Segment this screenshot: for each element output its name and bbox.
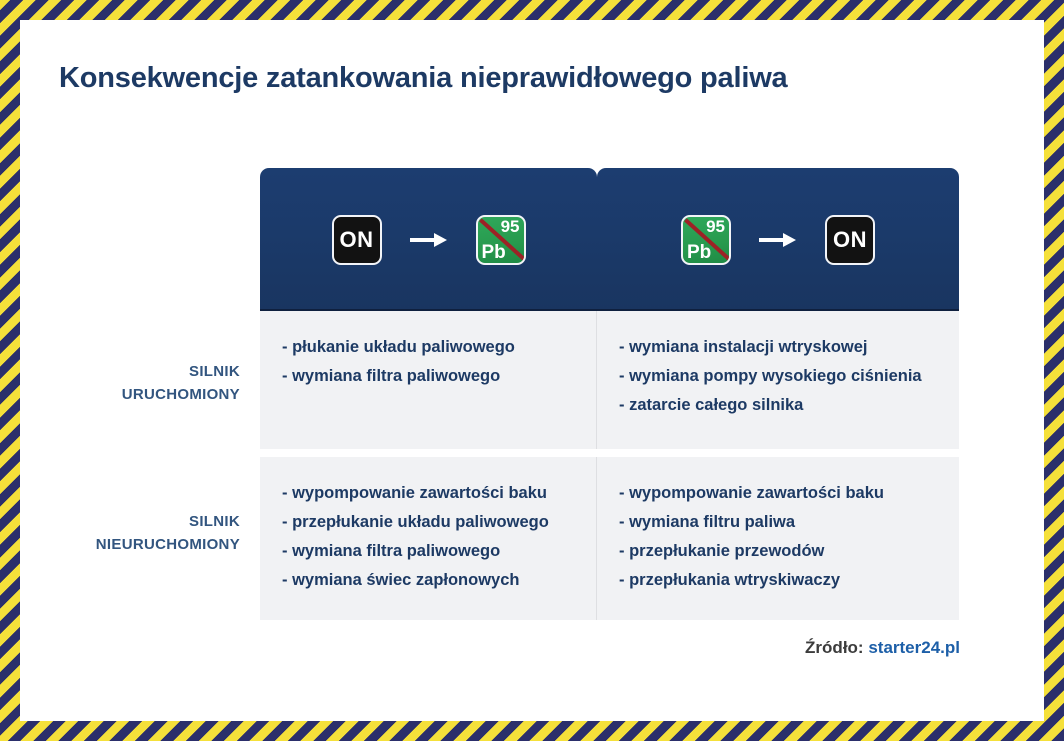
cell-engine-not-started-diesel-into-petrol: - wypompowanie zawartości baku - przepłu… [260, 457, 597, 620]
cell-engine-not-started-petrol-into-diesel: - wypompowanie zawartości baku - wymiana… [597, 457, 959, 620]
page-content: Konsekwencje zatankowania nieprawidłoweg… [20, 20, 1044, 721]
source-prefix: Źródło: [805, 638, 864, 657]
petrol-crossed-badge-icon: 95 Pb [476, 215, 526, 265]
row-label-engine-not-started: SILNIK NIEURUCHOMIONY [40, 510, 240, 556]
table-row: - płukanie układu paliwowego - wymiana f… [260, 311, 959, 449]
list-item: - wymiana filtra paliwowego [282, 362, 596, 391]
page-title: Konsekwencje zatankowania nieprawidłoweg… [59, 62, 787, 95]
row-separator [260, 449, 959, 457]
source-brand-link[interactable]: starter24.pl [868, 638, 960, 657]
arrow-right-icon [410, 232, 448, 248]
petrol-crossed-badge-icon: 95 Pb [681, 215, 731, 265]
list-item: - wymiana świec zapłonowych [282, 566, 596, 595]
list-item: - przepłukanie układu paliwowego [282, 508, 596, 537]
fuel-swap-icons: 95 Pb ON [681, 215, 875, 265]
source-attribution: Źródło: starter24.pl [805, 638, 960, 658]
list-item: - wypompowanie zawartości baku [282, 479, 596, 508]
table-row: - wypompowanie zawartości baku - przepłu… [260, 457, 959, 620]
diesel-badge-icon: ON [332, 215, 382, 265]
list-item: - wymiana filtra paliwowego [282, 537, 596, 566]
header-panel-diesel-into-petrol: ON 95 Pb [260, 168, 597, 311]
row-label-line2: NIEURUCHOMIONY [40, 533, 240, 556]
list-item: - przepłukanie przewodów [619, 537, 959, 566]
list-item: - zatarcie całego silnika [619, 391, 959, 420]
cell-engine-started-diesel-into-petrol: - płukanie układu paliwowego - wymiana f… [260, 311, 597, 449]
list-item: - wymiana instalacji wtryskowej [619, 333, 959, 362]
petrol-octane-number: 95 [501, 218, 520, 235]
matrix-header: ON 95 Pb 95 [260, 168, 959, 311]
fuel-swap-icons: ON 95 Pb [332, 215, 526, 265]
consequences-matrix: ON 95 Pb 95 [260, 168, 959, 620]
petrol-symbol: Pb [687, 243, 711, 262]
list-item: - przepłukania wtryskiwaczy [619, 566, 959, 595]
list-item: - wymiana pompy wysokiego ciśnienia [619, 362, 959, 391]
petrol-symbol: Pb [482, 243, 506, 262]
matrix-body: - płukanie układu paliwowego - wymiana f… [260, 311, 959, 620]
diesel-badge-icon: ON [825, 215, 875, 265]
row-label-engine-started: SILNIK URUCHOMIONY [40, 360, 240, 406]
petrol-octane-number: 95 [706, 218, 725, 235]
list-item: - wymiana filtru paliwa [619, 508, 959, 537]
cell-engine-started-petrol-into-diesel: - wymiana instalacji wtryskowej - wymian… [597, 311, 959, 449]
header-panel-petrol-into-diesel: 95 Pb ON [597, 168, 959, 311]
row-label-line2: URUCHOMIONY [40, 383, 240, 406]
list-item: - wypompowanie zawartości baku [619, 479, 959, 508]
arrow-right-icon [759, 232, 797, 248]
list-item: - płukanie układu paliwowego [282, 333, 596, 362]
infographic-page: Konsekwencje zatankowania nieprawidłoweg… [0, 0, 1064, 741]
row-label-line1: SILNIK [40, 360, 240, 383]
row-label-line1: SILNIK [40, 510, 240, 533]
